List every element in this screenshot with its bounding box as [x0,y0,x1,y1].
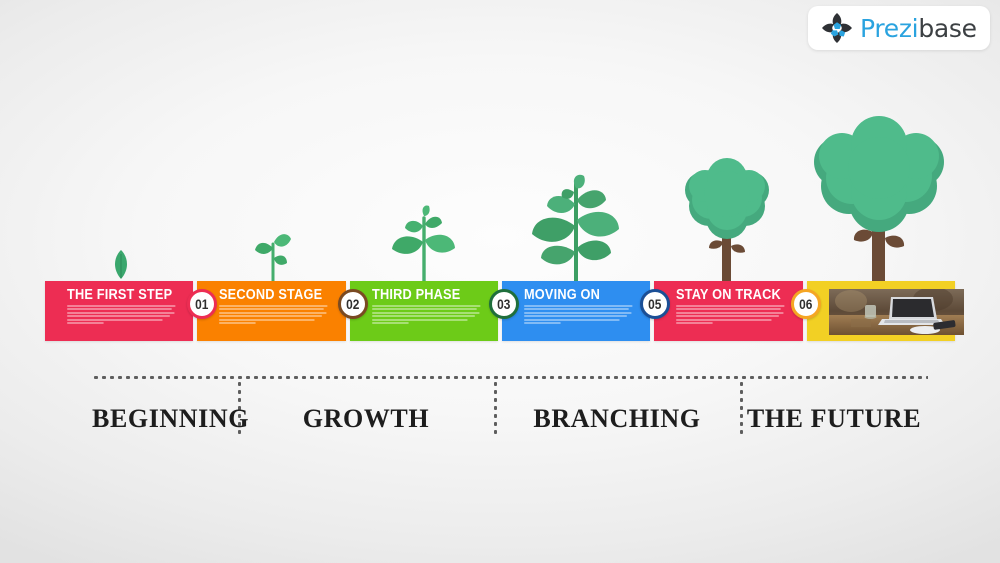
panel-body-text [372,305,481,324]
step-badge-01[interactable]: 01 [187,289,217,319]
phase-label-branching: BRANCHING [494,404,740,434]
panel-body-text [676,305,785,324]
step-badge-06[interactable]: 06 [791,289,821,319]
plant-row [45,140,955,282]
timeline-panel-5[interactable]: STAY ON TRACK [654,281,802,341]
panel-title: MOVING ON [524,288,635,302]
prezibase-logo[interactable]: Prezibase [808,6,990,50]
laptop-on-desk-photo [829,289,964,335]
single-leaf-sprout-icon [101,248,141,282]
prezibase-pinwheel-icon [820,11,854,45]
panel-title: THIRD PHASE [372,288,483,302]
panel-body-text [219,305,328,324]
panel-body-text [67,305,176,324]
timeline-panel-6[interactable] [807,281,955,341]
timeline-panel-4[interactable]: MOVING ON [502,281,650,341]
prezibase-wordmark: Prezibase [860,14,977,43]
logo-text-primary: Prezi [860,14,918,43]
phase-dotted-line [92,376,928,379]
phase-label-beginning: BEGINNING [92,404,238,434]
logo-text-secondary: base [918,14,976,43]
phase-label-growth: GROWTH [238,404,494,434]
timeline-panel-3[interactable]: THIRD PHASE [350,281,498,341]
infographic-canvas: Prezibase [0,0,1000,563]
step-badge-02[interactable]: 02 [338,289,368,319]
young-plant-icon [384,202,464,282]
step-badge-03[interactable]: 03 [489,289,519,319]
panel-body-text [524,305,633,324]
phase-label-the-future: THE FUTURE [740,404,928,434]
panel-title: SECOND STAGE [219,288,330,302]
timeline-panel-1[interactable]: THE FIRST STEP [45,281,193,341]
step-badge-05[interactable]: 05 [640,289,670,319]
large-tree-icon [809,106,949,282]
timeline-panel-2[interactable]: SECOND STAGE [197,281,345,341]
panel-title: THE FIRST STEP [67,288,178,302]
small-tree-icon [679,146,775,282]
panel-title: STAY ON TRACK [676,288,787,302]
leafy-bush-icon [520,174,632,282]
seedling-icon [243,226,301,282]
